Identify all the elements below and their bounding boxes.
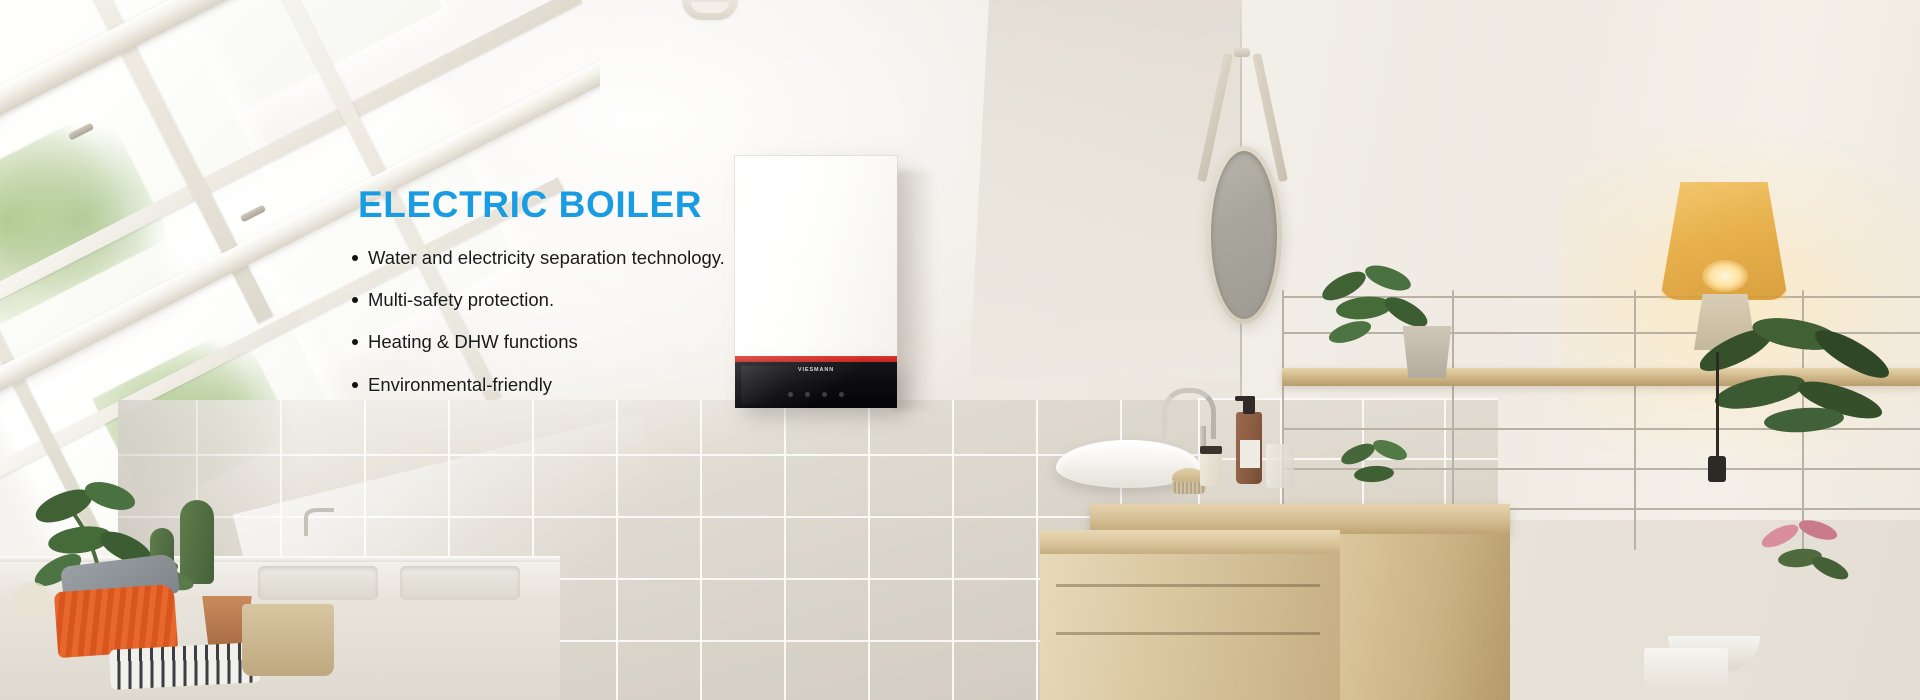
left-faucet <box>300 506 344 536</box>
pink-plant <box>1756 506 1856 596</box>
wooden-vanity <box>1040 478 1510 700</box>
mirror-frame <box>1206 146 1282 324</box>
round-mirror <box>1196 48 1288 338</box>
left-basin-secondary <box>400 566 520 600</box>
soap-pump <box>1243 396 1255 414</box>
lamp-bulb-glow <box>1702 260 1748 292</box>
list-item: Water and electricity separation technol… <box>352 247 822 268</box>
left-basin <box>258 566 378 600</box>
white-box <box>1644 648 1728 688</box>
list-item: Heating & DHW functions <box>352 331 822 352</box>
indicator-led <box>822 392 827 397</box>
boiler-drop-shadow <box>893 170 937 410</box>
page-title: ELECTRIC BOILER <box>358 186 822 225</box>
mirror-glass <box>1211 151 1277 319</box>
mirror-strap-top <box>1234 48 1250 57</box>
banner-copy: ELECTRIC BOILER Water and electricity se… <box>352 186 822 395</box>
vanity-countertop-lower <box>1040 530 1340 556</box>
promo-banner: VIESMANN <box>0 0 1920 700</box>
faucet-spout <box>1162 388 1216 439</box>
plug <box>1708 456 1726 482</box>
storage-basket <box>242 604 334 676</box>
list-item: Environmental-friendly <box>352 374 822 395</box>
jar-lid <box>1200 446 1222 454</box>
vanity-side-panel <box>1340 534 1510 700</box>
candle-jar <box>1200 452 1222 486</box>
feature-list: Water and electricity separation technol… <box>352 247 822 395</box>
soap-label <box>1240 440 1260 468</box>
toothbrush-glass <box>1266 444 1294 488</box>
list-item: Multi-safety protection. <box>352 289 822 310</box>
large-leafy-plant <box>1700 300 1910 440</box>
chrome-faucet <box>1162 388 1208 450</box>
folded-towel-striped <box>109 642 261 690</box>
indicator-led <box>839 392 844 397</box>
appliance-cable <box>1716 352 1719 462</box>
vanity-front-panel <box>1040 554 1340 700</box>
